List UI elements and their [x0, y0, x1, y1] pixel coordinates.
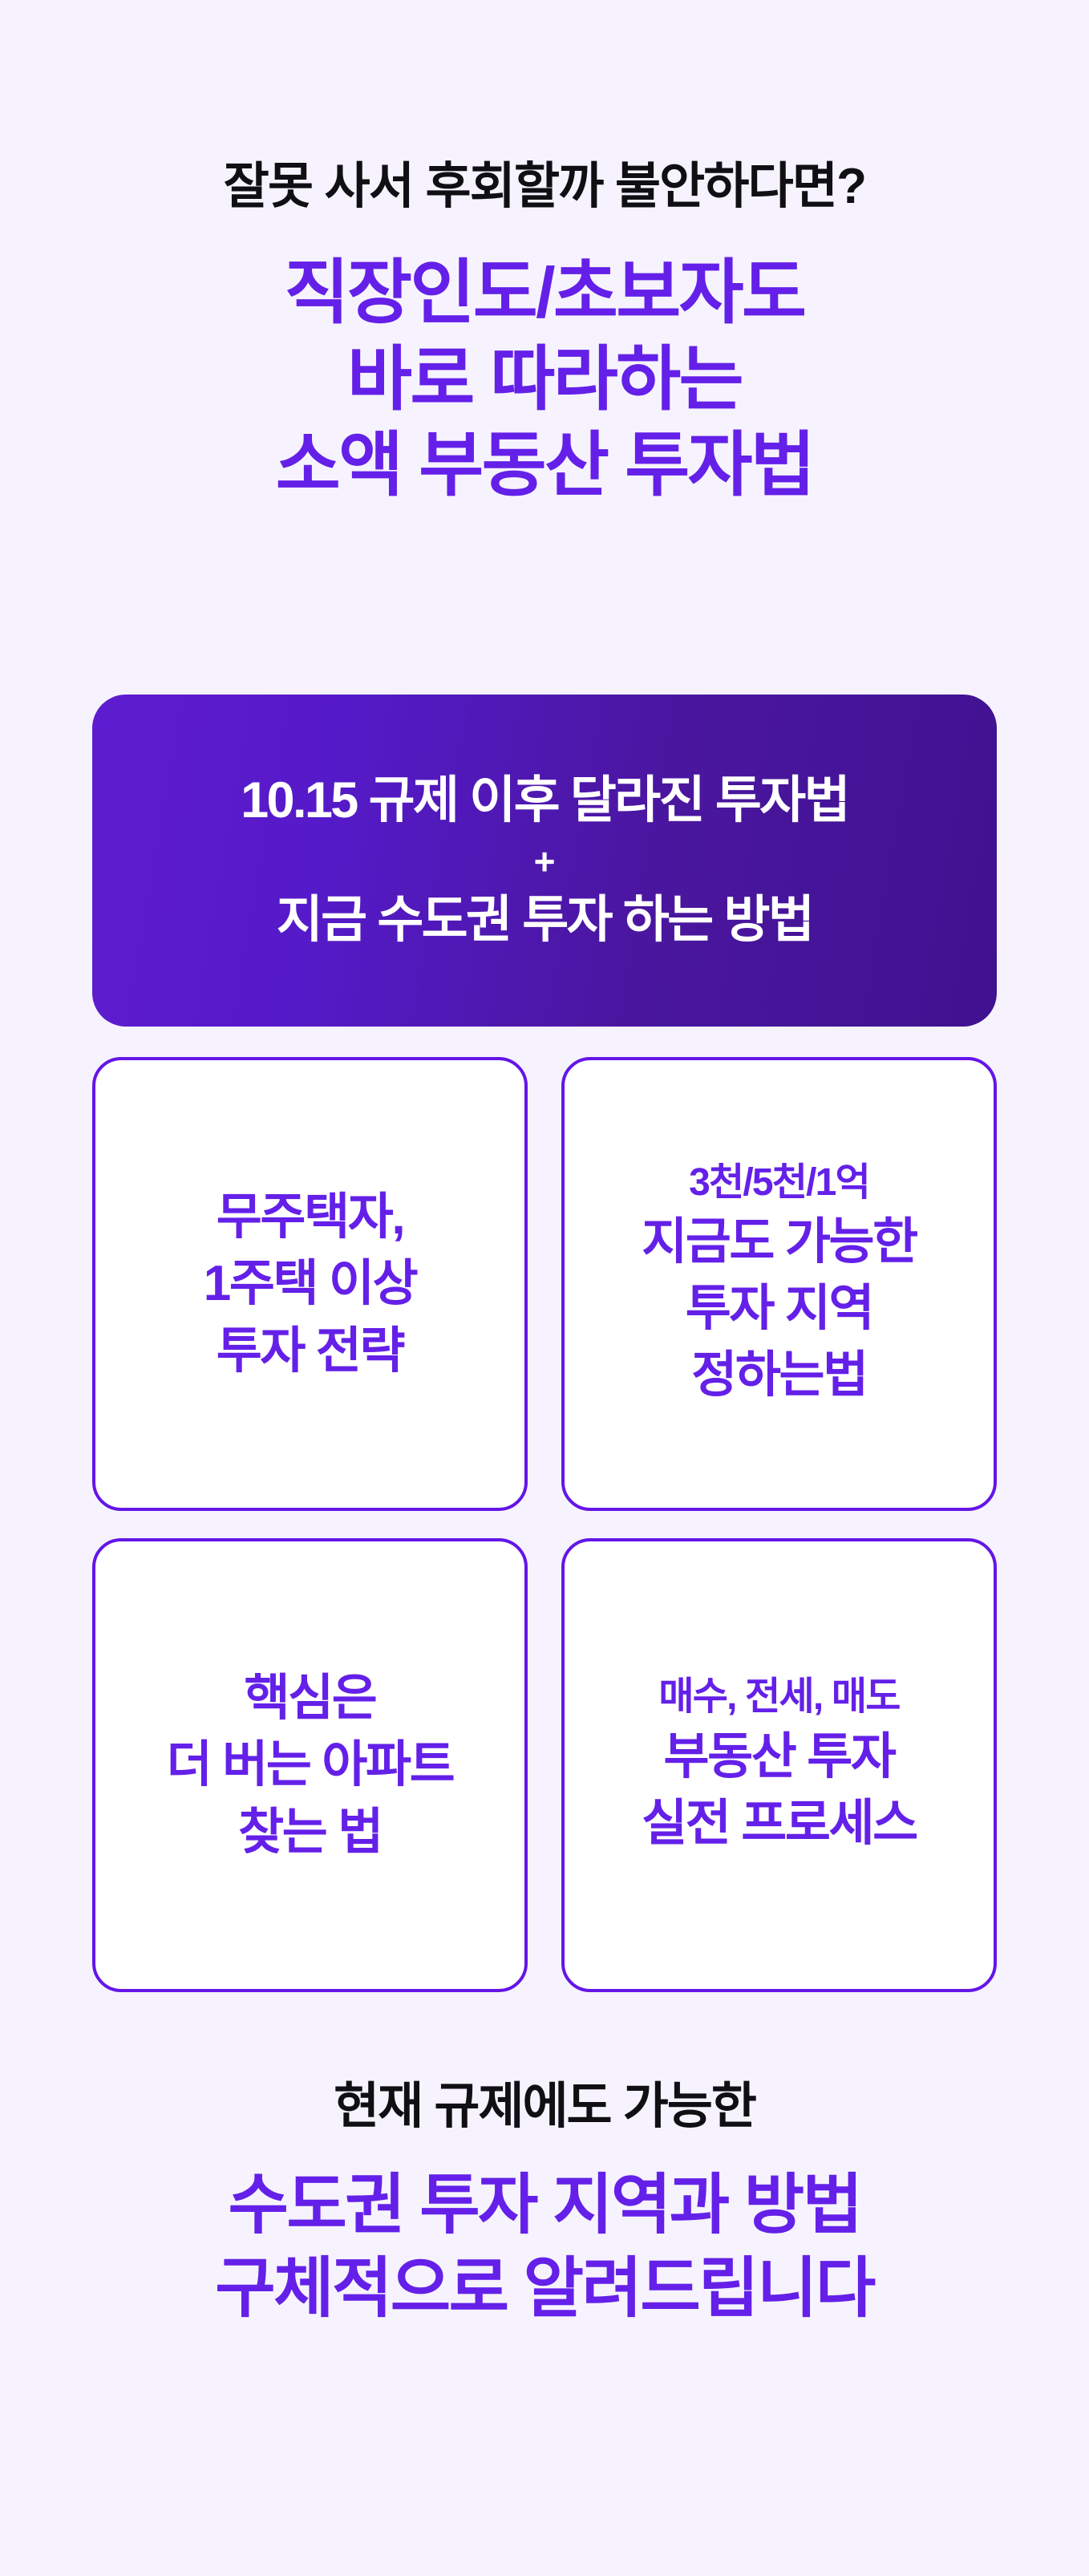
card-region-line-2: 투자 지역	[686, 1275, 872, 1342]
card-apartment-line-1: 핵심은	[245, 1665, 376, 1732]
promo-poster: 잘못 사서 후회할까 불안하다면? 직장인도/초보자도 바로 따라하는 소액 부…	[0, 0, 1089, 2576]
banner-plus-separator: +	[534, 843, 556, 880]
card-strategy-line-3: 투자 전략	[217, 1318, 403, 1384]
footer-title-line-2: 구체적으로 알려드립니다	[0, 2247, 1089, 2330]
card-strategy-line-1: 무주택자,	[217, 1184, 403, 1250]
card-strategy-line-2: 1주택 이상	[204, 1250, 416, 1317]
hero-section: 잘못 사서 후회할까 불안하다면? 직장인도/초보자도 바로 따라하는 소액 부…	[0, 157, 1089, 508]
card-region-line-3: 정하는법	[691, 1342, 867, 1408]
highlight-banner: 10.15 규제 이후 달라진 투자법 + 지금 수도권 투자 하는 방법	[92, 695, 997, 1027]
card-apartment-line-3: 찾는 법	[238, 1799, 382, 1865]
feature-card-grid: 무주택자, 1주택 이상 투자 전략 3천/5천/1억 지금도 가능한 투자 지…	[92, 1057, 997, 1992]
hero-title-line-2: 바로 따라하는	[0, 336, 1089, 422]
card-process-line-1: 부동산 투자	[663, 1723, 894, 1790]
footer-title: 수도권 투자 지역과 방법 구체적으로 알려드립니다	[0, 2164, 1089, 2330]
feature-card-region[interactable]: 3천/5천/1억 지금도 가능한 투자 지역 정하는법	[561, 1057, 997, 1511]
card-process-line-2: 실전 프로세스	[642, 1790, 917, 1857]
card-process-kicker: 매수, 전세, 매도	[658, 1674, 899, 1720]
footer-eyebrow: 현재 규제에도 가능한	[0, 2077, 1089, 2137]
footer-title-line-1: 수도권 투자 지역과 방법	[0, 2164, 1089, 2246]
card-apartment-line-2: 더 버는 아파트	[167, 1732, 454, 1798]
card-region-kicker: 3천/5천/1억	[689, 1160, 869, 1206]
hero-eyebrow: 잘못 사서 후회할까 불안하다면?	[0, 157, 1089, 216]
feature-card-apartment[interactable]: 핵심은 더 버는 아파트 찾는 법	[92, 1538, 528, 1992]
page-title: 직장인도/초보자도 바로 따라하는 소액 부동산 투자법	[0, 249, 1089, 508]
hero-title-line-1: 직장인도/초보자도	[0, 249, 1089, 335]
card-region-line-1: 지금도 가능한	[642, 1209, 917, 1275]
banner-line-2: 지금 수도권 투자 하는 방법	[277, 891, 813, 950]
feature-card-process[interactable]: 매수, 전세, 매도 부동산 투자 실전 프로세스	[561, 1538, 997, 1992]
footer-section: 현재 규제에도 가능한 수도권 투자 지역과 방법 구체적으로 알려드립니다	[0, 2077, 1089, 2330]
hero-title-line-3: 소액 부동산 투자법	[0, 422, 1089, 508]
banner-line-1: 10.15 규제 이후 달라진 투자법	[241, 772, 848, 830]
feature-card-strategy[interactable]: 무주택자, 1주택 이상 투자 전략	[92, 1057, 528, 1511]
